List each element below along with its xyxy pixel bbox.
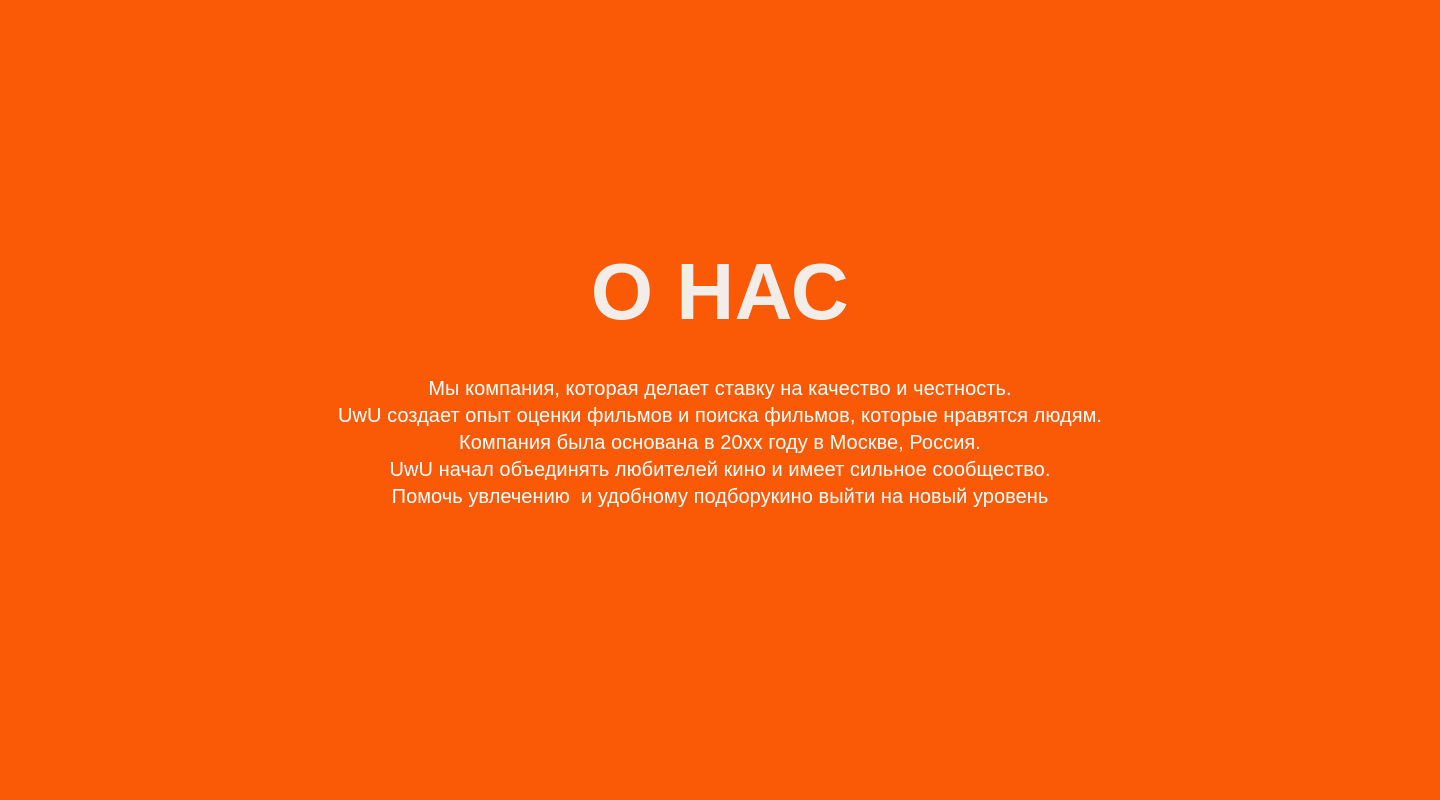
about-paragraph-line: Компания была основана в 20xx году в Мос… [338, 430, 1102, 457]
page-title: О НАС [591, 252, 849, 332]
about-description: Мы компания, которая делает ставку на ка… [338, 376, 1102, 511]
about-paragraph-line: UwU создает опыт оценки фильмов и поиска… [338, 403, 1102, 430]
about-paragraph-line: Мы компания, которая делает ставку на ка… [338, 376, 1102, 403]
about-paragraph-line: UwU начал объединять любителей кино и им… [338, 457, 1102, 484]
about-page: О НАС Мы компания, которая делает ставку… [0, 0, 1440, 800]
about-section: О НАС Мы компания, которая делает ставку… [0, 0, 1440, 511]
about-paragraph-line: Помочь увлечению и удобному подборукино … [338, 484, 1102, 511]
